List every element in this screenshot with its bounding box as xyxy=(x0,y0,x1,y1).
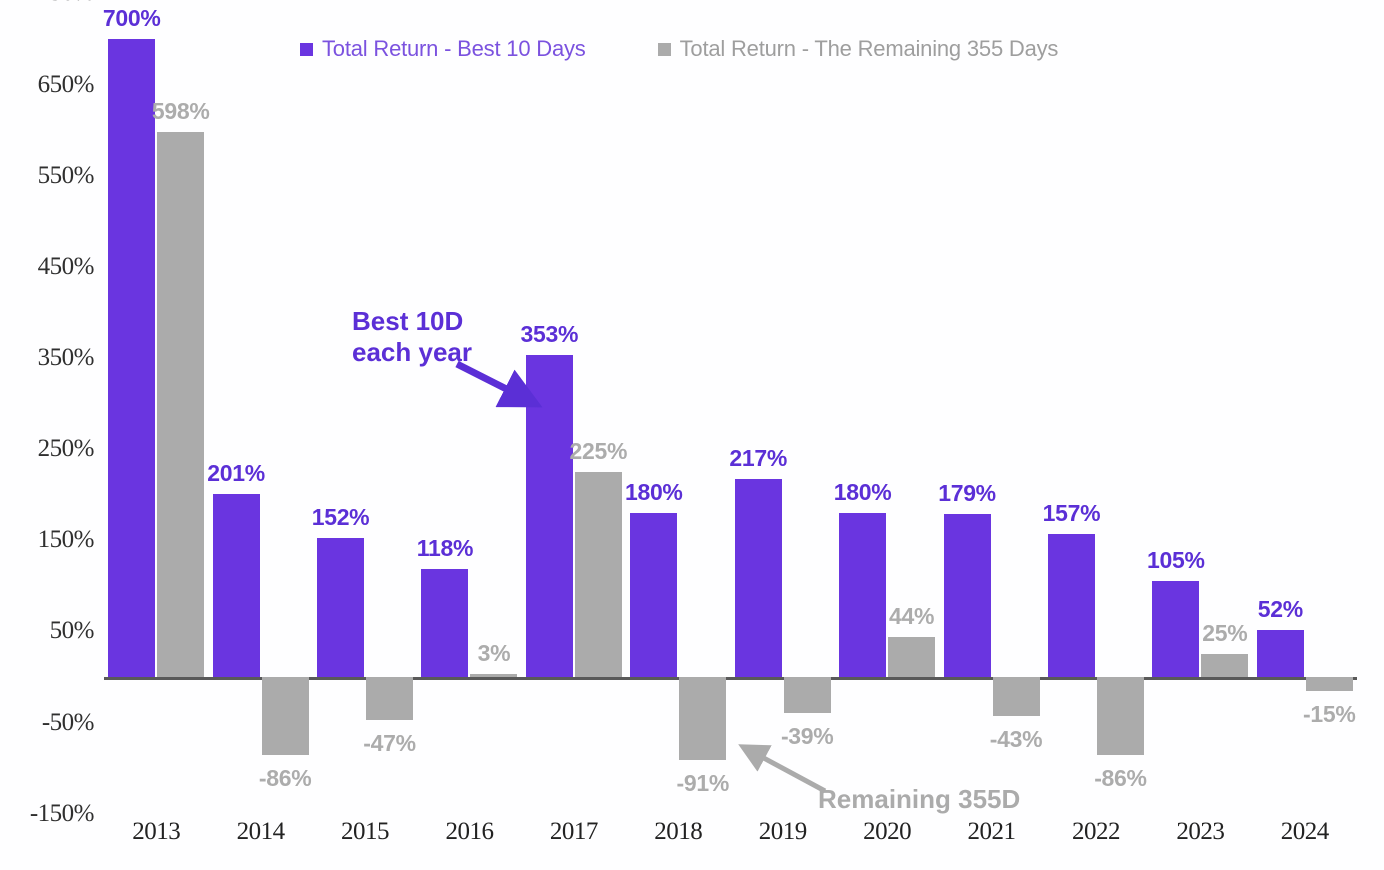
bar-grey-2018[interactable] xyxy=(679,677,726,760)
y-axis-tick-label: -50% xyxy=(42,709,94,737)
x-axis-tick-label: 2022 xyxy=(1072,818,1120,846)
bar-value-label-best-2018: 180% xyxy=(625,479,683,506)
x-axis-tick-label: 2014 xyxy=(237,818,285,846)
bar-purple-2015[interactable] xyxy=(317,538,364,677)
legend-item-remaining-355-days[interactable]: Total Return - The Remaining 355 Days xyxy=(658,36,1059,62)
x-axis-tick-label: 2013 xyxy=(132,818,180,846)
bar-grey-2020[interactable] xyxy=(888,637,935,677)
bar-value-label-best-2022: 157% xyxy=(1043,500,1101,527)
legend: Total Return - Best 10 Days Total Return… xyxy=(300,36,1058,62)
x-axis: 2013201420152016201720182019202020212022… xyxy=(104,818,1364,863)
bar-grey-2023[interactable] xyxy=(1201,654,1248,677)
y-axis: 750%650%550%450%350%250%150%50%-50%-150% xyxy=(0,0,94,870)
y-axis-tick-label: 250% xyxy=(38,435,94,463)
y-axis-tick-label: 550% xyxy=(38,162,94,190)
y-axis-tick-label: 150% xyxy=(38,526,94,554)
bar-purple-2017[interactable] xyxy=(526,355,573,677)
bar-value-label-best-2019: 217% xyxy=(729,445,787,472)
bar-purple-2024[interactable] xyxy=(1257,630,1304,677)
x-axis-tick-label: 2020 xyxy=(863,818,911,846)
bar-purple-2022[interactable] xyxy=(1048,534,1095,677)
bar-grey-2013[interactable] xyxy=(157,132,204,677)
bar-value-label-remaining-2016: 3% xyxy=(478,640,511,667)
bar-grey-2024[interactable] xyxy=(1306,677,1353,691)
bar-group: 118%3% xyxy=(417,0,521,812)
annotation-remaining-355d: Remaining 355D xyxy=(818,784,1020,815)
legend-item-best-10-days[interactable]: Total Return - Best 10 Days xyxy=(300,36,586,62)
bar-purple-2016[interactable] xyxy=(421,569,468,677)
bar-grey-2019[interactable] xyxy=(784,677,831,713)
x-axis-tick-label: 2017 xyxy=(550,818,598,846)
bar-value-label-remaining-2024: -15% xyxy=(1303,701,1356,728)
x-axis-tick-label: 2021 xyxy=(968,818,1016,846)
bar-value-label-remaining-2020: 44% xyxy=(889,603,934,630)
bar-group: 179%-43% xyxy=(939,0,1043,812)
bar-value-label-best-2020: 180% xyxy=(834,479,892,506)
bar-purple-2018[interactable] xyxy=(630,513,677,677)
bar-group: 180%44% xyxy=(835,0,939,812)
bar-value-label-best-2014: 201% xyxy=(207,460,265,487)
bar-value-label-remaining-2019: -39% xyxy=(781,723,834,750)
bar-value-label-remaining-2023: 25% xyxy=(1202,620,1247,647)
x-axis-tick-label: 2023 xyxy=(1176,818,1224,846)
bar-grey-2016[interactable] xyxy=(470,674,517,677)
y-axis-tick-label: -150% xyxy=(30,800,94,828)
bar-value-label-best-2016: 118% xyxy=(417,535,473,562)
bar-group: 700%598% xyxy=(104,0,208,812)
bar-group: 105%25% xyxy=(1148,0,1252,812)
bar-group: 201%-86% xyxy=(208,0,312,812)
legend-item-label: Total Return - Best 10 Days xyxy=(322,36,586,62)
plot-area: 700%598%201%-86%152%-47%118%3%353%225%18… xyxy=(104,0,1364,812)
bar-value-label-remaining-2021: -43% xyxy=(990,726,1043,753)
bar-purple-2013[interactable] xyxy=(108,39,155,677)
bar-value-label-best-2023: 105% xyxy=(1147,547,1205,574)
bar-purple-2023[interactable] xyxy=(1152,581,1199,677)
bar-value-label-best-2013: 700% xyxy=(103,5,161,32)
bar-grey-2014[interactable] xyxy=(262,677,309,755)
x-axis-tick-label: 2024 xyxy=(1281,818,1329,846)
legend-swatch-icon xyxy=(658,43,671,56)
bar-value-label-remaining-2015: -47% xyxy=(363,730,416,757)
bar-value-label-remaining-2017: 225% xyxy=(570,438,628,465)
bar-value-label-remaining-2022: -86% xyxy=(1094,765,1147,792)
bar-value-label-remaining-2018: -91% xyxy=(677,770,730,797)
y-axis-tick-label: 450% xyxy=(38,253,94,281)
bar-value-label-best-2015: 152% xyxy=(312,504,370,531)
bar-group: 217%-39% xyxy=(731,0,835,812)
bar-purple-2014[interactable] xyxy=(213,494,260,677)
bar-value-label-best-2021: 179% xyxy=(938,480,996,507)
legend-swatch-icon xyxy=(300,43,313,56)
legend-item-label: Total Return - The Remaining 355 Days xyxy=(680,36,1059,62)
bar-purple-2020[interactable] xyxy=(839,513,886,677)
bar-purple-2021[interactable] xyxy=(944,514,991,677)
y-axis-tick-label: 50% xyxy=(50,617,94,645)
y-axis-tick-label: 350% xyxy=(38,344,94,372)
y-axis-tick-label: 650% xyxy=(38,71,94,99)
bar-group: 180%-91% xyxy=(626,0,730,812)
x-axis-tick-label: 2018 xyxy=(654,818,702,846)
bar-grey-2022[interactable] xyxy=(1097,677,1144,755)
annotation-best-10d: Best 10D each year xyxy=(352,306,472,367)
bar-group: 353%225% xyxy=(522,0,626,812)
bar-value-label-best-2024: 52% xyxy=(1258,596,1303,623)
x-axis-tick-label: 2015 xyxy=(341,818,389,846)
bar-chart: 750%650%550%450%350%250%150%50%-50%-150%… xyxy=(0,0,1384,870)
bar-grey-2015[interactable] xyxy=(366,677,413,720)
x-axis-tick-label: 2019 xyxy=(759,818,807,846)
bar-value-label-best-2017: 353% xyxy=(521,321,579,348)
bar-group: 157%-86% xyxy=(1044,0,1148,812)
bar-value-label-remaining-2014: -86% xyxy=(259,765,312,792)
bar-group: 152%-47% xyxy=(313,0,417,812)
bar-value-label-remaining-2013: 598% xyxy=(152,98,210,125)
y-axis-tick-label: 750% xyxy=(38,0,94,7)
bar-grey-2021[interactable] xyxy=(993,677,1040,716)
bar-group: 52%-15% xyxy=(1253,0,1357,812)
bar-purple-2019[interactable] xyxy=(735,479,782,677)
bar-grey-2017[interactable] xyxy=(575,472,622,677)
x-axis-tick-label: 2016 xyxy=(445,818,493,846)
